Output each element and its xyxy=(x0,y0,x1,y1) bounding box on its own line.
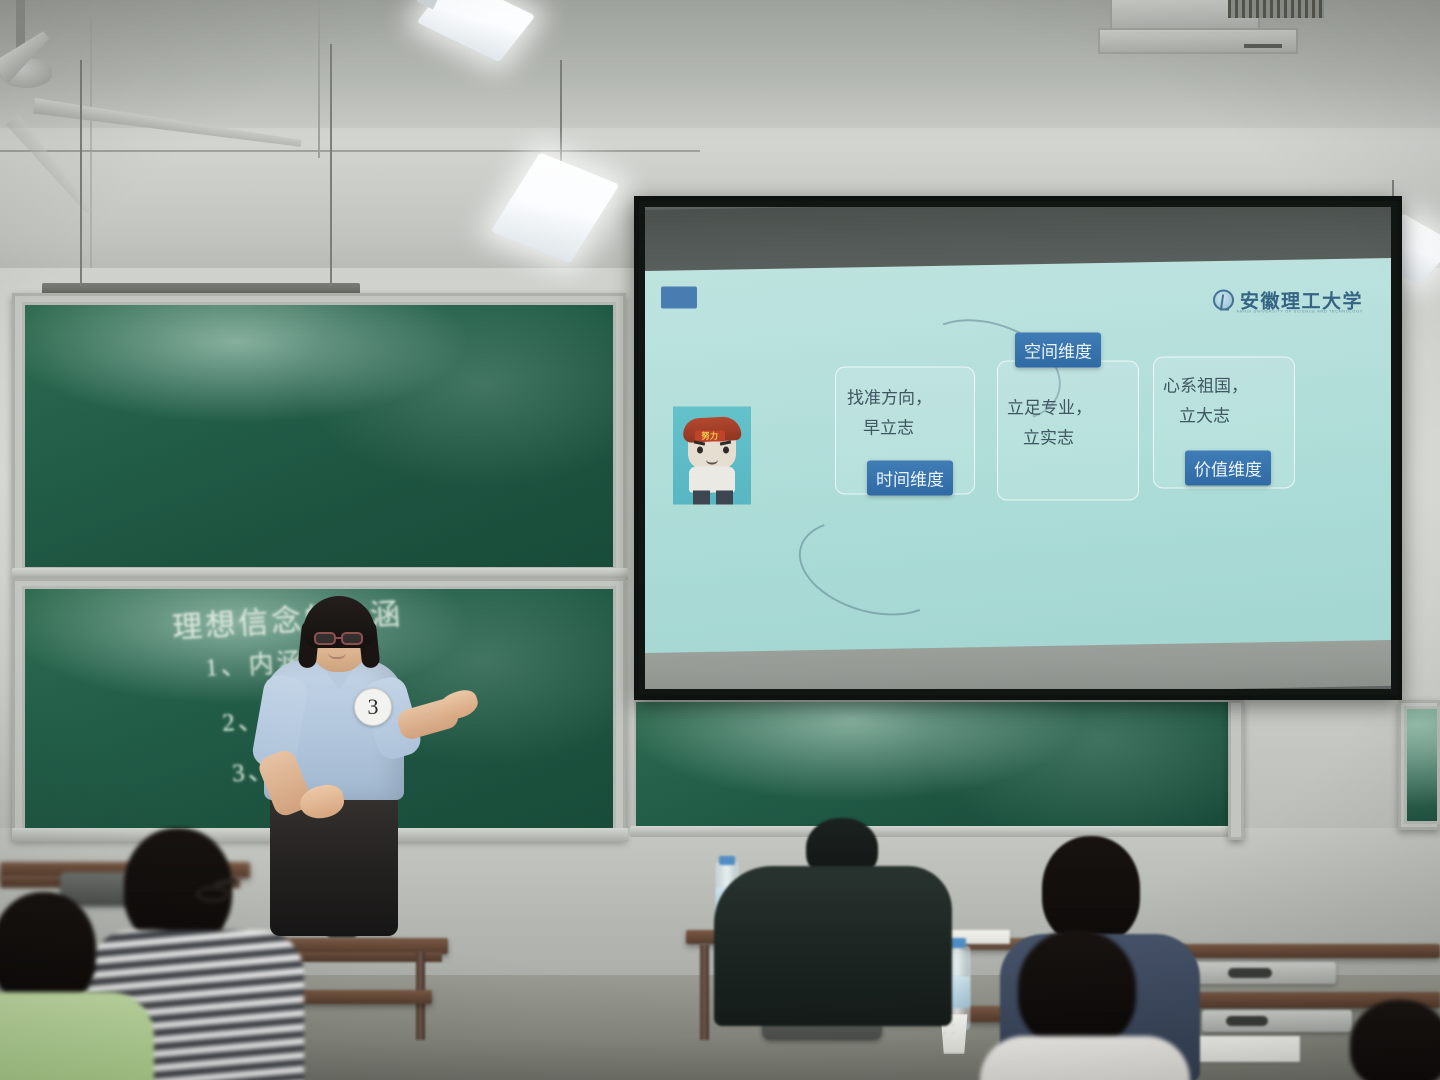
blackboard-right xyxy=(634,700,1234,830)
university-subtitle: ANHUI UNIVERSITY OF SCIENCE AND TECHNOLO… xyxy=(1236,308,1363,313)
university-emblem-icon xyxy=(1213,289,1234,310)
badge-space[interactable]: 空间维度 xyxy=(1015,332,1101,367)
paper-on-desk xyxy=(1196,1036,1300,1062)
card-time-line1: 找准方向， xyxy=(847,386,932,411)
ceiling-seam xyxy=(0,150,700,152)
vent-slot xyxy=(1244,44,1282,48)
light-bar-wire-2 xyxy=(330,44,332,286)
mascot-illustration: 努力 xyxy=(673,406,751,504)
seat-slot-2 xyxy=(1226,1016,1268,1026)
presenter-glasses-bridge xyxy=(335,637,343,639)
ceiling-seam-vertical xyxy=(318,0,320,158)
card-value-line1: 心系祖国， xyxy=(1163,374,1248,399)
flow-arrow-bottom xyxy=(788,504,957,632)
presentation-slide: 安徽理工大学 ANHUI UNIVERSITY OF SCIENCE AND T… xyxy=(645,258,1391,653)
card-time-line2: 早立志 xyxy=(863,416,914,441)
university-logo: 安徽理工大学 ANHUI UNIVERSITY OF SCIENCE AND T… xyxy=(1213,286,1363,313)
projection-screen[interactable]: 安徽理工大学 ANHUI UNIVERSITY OF SCIENCE AND T… xyxy=(634,196,1402,700)
blackboard-right-ledge xyxy=(630,826,1240,837)
presenter-glasses-left-lens xyxy=(314,632,336,645)
desk-right-leg-1 xyxy=(700,944,709,1040)
ceiling-hanger-wire xyxy=(90,20,92,290)
projection-screen-surface: 安徽理工大学 ANHUI UNIVERSITY OF SCIENCE AND T… xyxy=(645,207,1391,689)
wall-board-far-right-panel xyxy=(1404,706,1440,824)
blackboard-upper xyxy=(22,302,616,570)
seat-far-right-2 xyxy=(1202,1010,1352,1032)
ceiling-vent-frame xyxy=(1098,28,1298,54)
presenter-number-badge: 3 xyxy=(354,688,392,726)
seat-slot-1 xyxy=(1228,968,1272,978)
presenter-glasses-right-lens xyxy=(341,632,363,645)
classroom-scene: 理想信念的内涵 1、内涵 2、特征 3、 安徽理工大学 ANHUI UNIVER… xyxy=(0,0,1440,1080)
card-space-line2: 立实志 xyxy=(1023,426,1074,451)
vent-grill xyxy=(1228,0,1324,18)
light-bar-wire xyxy=(80,60,82,286)
badge-value[interactable]: 价值维度 xyxy=(1185,450,1271,485)
badge-time[interactable]: 时间维度 xyxy=(867,460,953,495)
mascot-headband-text: 努力 xyxy=(702,432,719,440)
mascot-headband: 努力 xyxy=(695,430,725,441)
blackboard-right-edge xyxy=(1228,700,1244,840)
card-value-line2: 立大志 xyxy=(1179,404,1230,429)
slide-corner-tag xyxy=(661,286,697,308)
card-space-line1: 立足专业， xyxy=(1007,396,1092,421)
